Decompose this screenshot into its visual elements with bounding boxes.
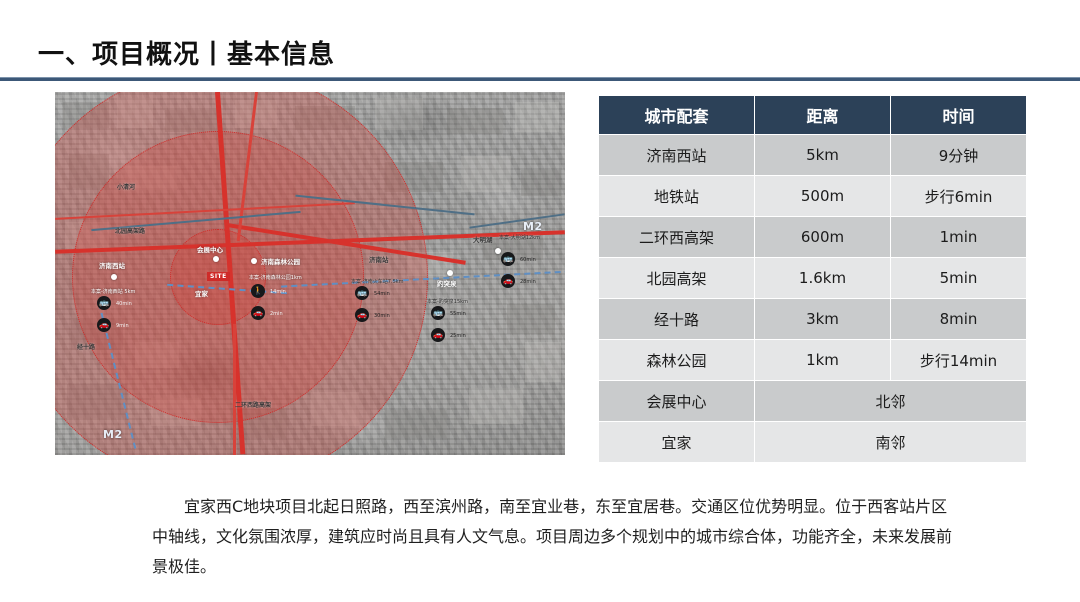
cell-distance: 1km [755, 340, 891, 381]
cell-time: 步行14min [891, 340, 1027, 381]
bus-icon-baotu-spring: 🚌 [431, 306, 445, 320]
table-row: 宜家 南邻 [599, 422, 1027, 463]
map-time-jinan-station-car: 30min [374, 313, 390, 319]
map-site-marker: SITE [207, 272, 230, 281]
bus-icon-daming-lake: 🚌 [501, 252, 515, 266]
map-label-xiaoqing-river: 小清河 [117, 182, 135, 191]
map-dot-forest-park [251, 258, 257, 264]
cell-facility: 经十路 [599, 299, 755, 340]
project-summary-paragraph: 宜家西C地块项目北起日照路，西至滨州路，南至宜业巷，东至宜居巷。交通区位优势明显… [152, 492, 952, 582]
cell-distance: 500m [755, 176, 891, 217]
map-time-west-station-car: 9min [116, 323, 129, 329]
map-note-baotu-spring-distance: 本案-趵突泉15km [427, 298, 468, 305]
column-header-distance: 距离 [755, 96, 891, 135]
map-label-forest-park: 济南森林公园 [261, 256, 300, 266]
map-note-west-station-distance: 本案-济南西站 5km [91, 288, 135, 295]
cell-facility: 济南西站 [599, 135, 755, 176]
map-label-jingshi-road: 经十路 [77, 342, 95, 351]
table-row: 济南西站 5km 9分钟 [599, 135, 1027, 176]
map-dot-convention-center [213, 256, 219, 262]
map-label-beiyuan-elevated: 北园高架路 [115, 226, 145, 235]
cell-facility: 宜家 [599, 422, 755, 463]
table-row: 地铁站 500m 步行6min [599, 176, 1027, 217]
bus-icon-jinan-station: 🚌 [355, 286, 369, 300]
car-icon-forest-park: 🚗 [251, 306, 265, 320]
table-row: 北园高架 1.6km 5min [599, 258, 1027, 299]
cell-distance: 600m [755, 217, 891, 258]
cell-distance: 3km [755, 299, 891, 340]
table-header-row: 城市配套 距离 时间 [599, 96, 1027, 135]
car-icon-west-station: 🚗 [97, 318, 111, 332]
map-time-west-station-bus: 40min [116, 301, 132, 307]
cell-facility: 北园高架 [599, 258, 755, 299]
map-time-baotu-spring-bus: 55min [450, 311, 466, 317]
map-time-baotu-spring-car: 25min [450, 333, 466, 339]
cell-time: 5min [891, 258, 1027, 299]
cell-time: 9分钟 [891, 135, 1027, 176]
road-secondary-south [233, 324, 236, 455]
walk-icon-forest-park: 🚶 [251, 284, 265, 298]
cell-facility: 二环西高架 [599, 217, 755, 258]
cell-facility: 地铁站 [599, 176, 755, 217]
table-row: 会展中心 北邻 [599, 381, 1027, 422]
cell-time: 1min [891, 217, 1027, 258]
bus-icon-west-station: 🚌 [97, 296, 111, 310]
map-label-baotu-spring: 趵突泉 [437, 278, 457, 288]
cell-time: 8min [891, 299, 1027, 340]
car-icon-baotu-spring: 🚗 [431, 328, 445, 342]
cell-distance: 1.6km [755, 258, 891, 299]
map-time-daming-lake-car: 28min [520, 279, 536, 285]
map-label-ikea: 宜家 [195, 288, 208, 298]
cell-time: 步行6min [891, 176, 1027, 217]
map-label-metro-m2-northeast: M2 [523, 220, 543, 233]
column-header-time: 时间 [891, 96, 1027, 135]
map-note-forest-park-distance: 本案-济南森林公园1km [249, 274, 302, 281]
map-label-convention-center: 会展中心 [197, 244, 223, 254]
table-row: 森林公园 1km 步行14min [599, 340, 1027, 381]
page-title: 一、项目概况丨基本信息 [38, 34, 335, 71]
map-note-jinan-station-distance: 本案-济南火车站7.5km [351, 278, 404, 285]
map-time-forest-park-car: 2min [270, 311, 283, 317]
map-label-erhuan-elevated: 二环西路高架 [235, 400, 271, 409]
map-dot-jinan-west-station [111, 274, 117, 280]
cell-merged-note: 北邻 [755, 381, 1027, 422]
map-time-daming-lake-bus: 60min [520, 257, 536, 263]
map-time-jinan-station-bus: 54min [374, 291, 390, 297]
map-label-jinan-west-station: 济南西站 [99, 260, 125, 270]
table-row: 二环西高架 600m 1min [599, 217, 1027, 258]
map-dot-baotu-spring [447, 270, 453, 276]
column-header-facility: 城市配套 [599, 96, 755, 135]
title-divider [0, 77, 1080, 81]
location-map: 小清河 北园高架路 经十路 二环西路高架 M2 M2 会展中心 SITE 宜家 … [55, 92, 565, 455]
city-amenities-table: 城市配套 距离 时间 济南西站 5km 9分钟 地铁站 500m 步行6min … [598, 95, 1027, 463]
map-time-forest-park-walk: 14min [270, 289, 286, 295]
map-note-daming-lake-distance: 本案-大明湖12km [499, 234, 540, 241]
table-row: 经十路 3km 8min [599, 299, 1027, 340]
cell-distance: 5km [755, 135, 891, 176]
map-label-jinan-station: 济南站 [369, 254, 389, 264]
map-dot-daming-lake [495, 248, 501, 254]
car-icon-jinan-station: 🚗 [355, 308, 369, 322]
car-icon-daming-lake: 🚗 [501, 274, 515, 288]
map-label-metro-m2-southwest: M2 [103, 428, 123, 441]
cell-merged-note: 南邻 [755, 422, 1027, 463]
map-label-daming-lake: 大明湖 [473, 234, 493, 244]
cell-facility: 森林公园 [599, 340, 755, 381]
cell-facility: 会展中心 [599, 381, 755, 422]
